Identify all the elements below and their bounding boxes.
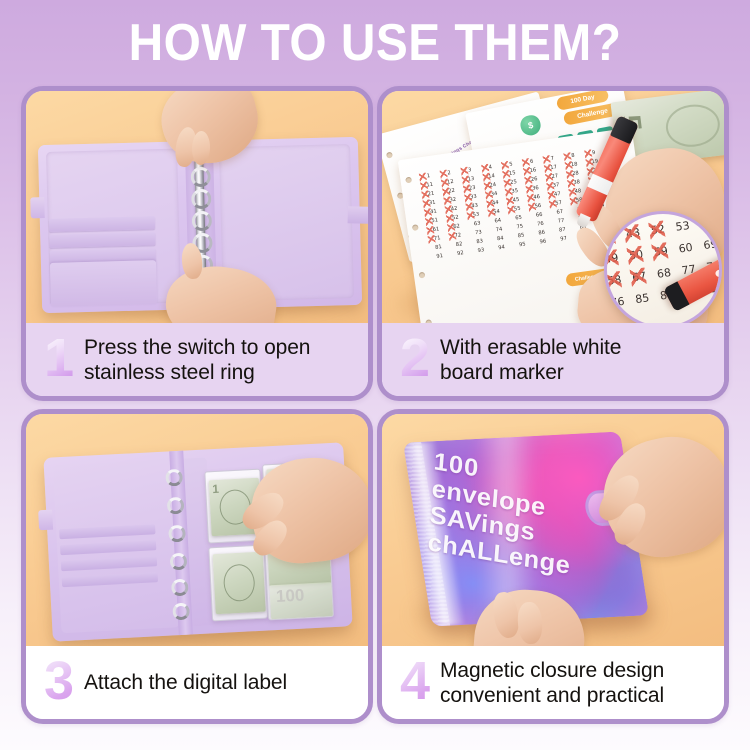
card-slot (49, 216, 155, 232)
inset-tracker-number: 68 (651, 262, 677, 285)
scene-open-binder-rings (26, 91, 368, 323)
binder-closure-strap (348, 206, 368, 224)
binder-side-tab (30, 197, 45, 218)
step-photo-1 (26, 91, 368, 323)
step-number-2: 2 (394, 331, 436, 385)
caption-line: board marker (440, 360, 621, 385)
scene-tracker-sheet-marker: Total $5050 100 Envelope Challenge Track… (382, 91, 724, 323)
inset-tracker-number: 49 (604, 248, 624, 271)
inset-tracker-number: 69 (698, 234, 722, 257)
bill-portrait-oval (223, 564, 256, 603)
inset-tracker-number: 59 (648, 241, 674, 264)
inset-tracker-number: 67 (626, 266, 652, 289)
steps-grid: 1 Press the switch to open stainless ste… (21, 86, 729, 730)
caption-line: With erasable white (440, 335, 621, 360)
bill-denomination: 1 (212, 482, 219, 496)
punch-hole (386, 151, 393, 158)
caption-line: convenient and practical (440, 683, 664, 708)
inset-marker-dot (714, 269, 722, 278)
step-photo-2: Total $5050 100 Envelope Challenge Track… (382, 91, 724, 323)
step-text-2: With erasable white board marker (440, 335, 621, 385)
zoom-inset: 4243525362495059606958676877787685868788 (604, 211, 722, 323)
step-text-4: Magnetic closure design convenient and p… (440, 658, 664, 708)
inset-tracker-number: 53 (670, 215, 696, 238)
inset-tracker-number: 50 (623, 244, 649, 267)
binder-side-tab (38, 510, 53, 531)
tracker-number: 93 (470, 245, 491, 256)
inset-tracker-number: 76 (605, 291, 631, 314)
step-card-3: 1 5 100 (21, 409, 373, 724)
tracker-number: 96 (532, 237, 553, 248)
money-bag-icon (519, 114, 542, 137)
inset-number-grid: 4243525362495059606958676877787685868788 (604, 212, 722, 314)
step-text-3: Attach the digital label (84, 670, 287, 695)
inset-tracker-number: 52 (645, 219, 671, 242)
step-caption-4: 4 Magnetic closure design convenient and… (382, 646, 724, 719)
step-number-4: 4 (394, 654, 436, 708)
punch-hole (412, 224, 419, 231)
page-title: HOW TO USE THEM? (30, 0, 720, 72)
punch-hole (419, 272, 426, 279)
caption-line: Magnetic closure design (440, 658, 664, 683)
step-card-4: 100 envelope SAVings chALLenge 4 Magneti (377, 409, 729, 724)
punch-hole (405, 177, 412, 184)
caption-line: Attach the digital label (84, 670, 287, 695)
caption-line: Press the switch to open (84, 335, 310, 360)
scene-holographic-cover: 100 envelope SAVings chALLenge (382, 414, 724, 646)
dollar-bill (213, 552, 266, 615)
inset-tracker-number: 58 (604, 269, 627, 292)
step-number-1: 1 (38, 331, 80, 385)
step-text-1: Press the switch to open stainless steel… (84, 335, 310, 385)
tracker-number: 97 (553, 234, 574, 245)
step-number-3: 3 (38, 654, 80, 708)
step-photo-4: 100 envelope SAVings chALLenge (382, 414, 724, 646)
tracker-number: 94 (491, 242, 512, 253)
inset-tracker-number: 60 (673, 237, 699, 260)
inset-tracker-number: 42 (604, 226, 621, 249)
step-caption-2: 2 With erasable white board marker (382, 323, 724, 396)
dollar-bill: 100 (269, 582, 333, 619)
cash-envelope (208, 545, 268, 622)
inset-tracker-number: 85 (630, 288, 656, 311)
bill-portrait-oval (664, 102, 723, 150)
tracker-number: 95 (512, 239, 533, 250)
step-card-1: 1 Press the switch to open stainless ste… (21, 86, 373, 401)
bill-denomination: 100 (275, 586, 304, 607)
card-slot (49, 232, 155, 248)
tracker-number: 91 (429, 251, 450, 262)
step-caption-3: 3 Attach the digital label (26, 646, 368, 719)
tracker-number: 92 (450, 248, 471, 259)
inset-tracker-number: 62 (695, 212, 721, 235)
step-card-2: Total $5050 100 Envelope Challenge Track… (377, 86, 729, 401)
inset-marker-tip (663, 281, 689, 311)
step-photo-3: 1 5 100 (26, 414, 368, 646)
step-caption-1: 1 Press the switch to open stainless ste… (26, 323, 368, 396)
inset-tracker-number: 43 (620, 222, 646, 245)
binder-pocket (50, 260, 157, 307)
caption-line: stainless steel ring (84, 360, 310, 385)
scene-binder-cash-envelopes: 1 5 100 (26, 414, 368, 646)
